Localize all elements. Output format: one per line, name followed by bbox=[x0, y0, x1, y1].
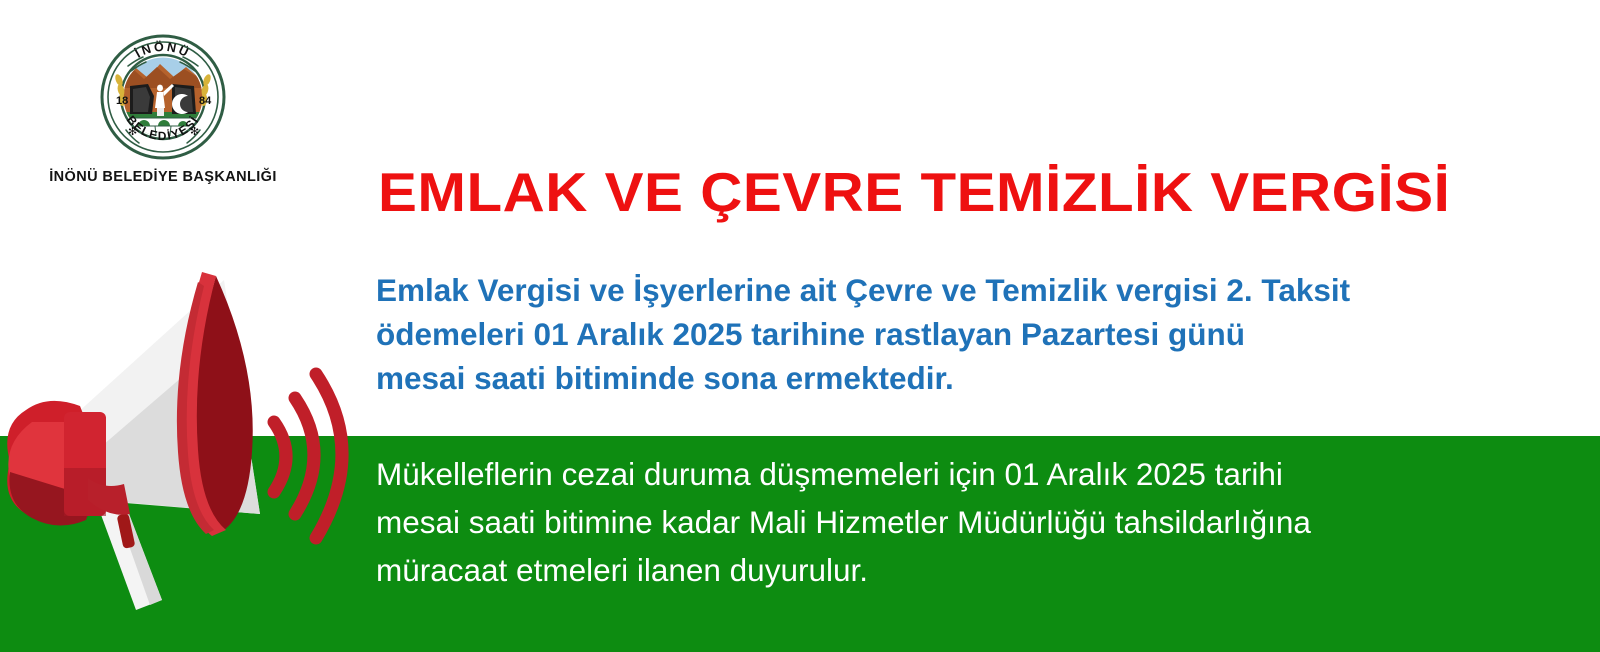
green-line-3: müracaat etmeleri ilanen duyurulur. bbox=[376, 546, 1576, 594]
page-title: EMLAK VE ÇEVRE TEMİZLİK VERGİSİ bbox=[378, 163, 1502, 222]
green-announcement-paragraph: Mükelleflerin cezai duruma düşmemeleri i… bbox=[376, 450, 1576, 594]
blue-line-3: mesai saati bitiminde sona ermektedir. bbox=[376, 356, 1556, 400]
blue-line-2: ödemeleri 01 Aralık 2025 tarihine rastla… bbox=[376, 312, 1556, 356]
municipality-emblem-icon: 18 84 İNÖNÜ BELEDİYESİ ✻ ✻ bbox=[100, 34, 226, 160]
svg-text:✻: ✻ bbox=[128, 126, 137, 138]
municipality-logo-block: 18 84 İNÖNÜ BELEDİYESİ ✻ ✻ İNÖNÜ BELEDİY… bbox=[18, 34, 308, 185]
sound-wave-icon bbox=[274, 374, 342, 538]
announcement-poster: 18 84 İNÖNÜ BELEDİYESİ ✻ ✻ İNÖNÜ BELEDİY… bbox=[0, 0, 1600, 652]
emblem-year-left: 18 bbox=[116, 95, 128, 107]
megaphone-icon bbox=[0, 262, 364, 610]
emblem-year-right: 84 bbox=[199, 95, 212, 107]
municipality-caption: İNÖNÜ BELEDİYE BAŞKANLIĞI bbox=[18, 169, 308, 185]
svg-text:✻: ✻ bbox=[190, 126, 199, 138]
blue-announcement-paragraph: Emlak Vergisi ve İşyerlerine ait Çevre v… bbox=[376, 268, 1556, 400]
green-line-1: Mükelleflerin cezai duruma düşmemeleri i… bbox=[376, 450, 1576, 498]
green-line-2: mesai saati bitimine kadar Mali Hizmetle… bbox=[376, 498, 1576, 546]
blue-line-1: Emlak Vergisi ve İşyerlerine ait Çevre v… bbox=[376, 268, 1556, 312]
